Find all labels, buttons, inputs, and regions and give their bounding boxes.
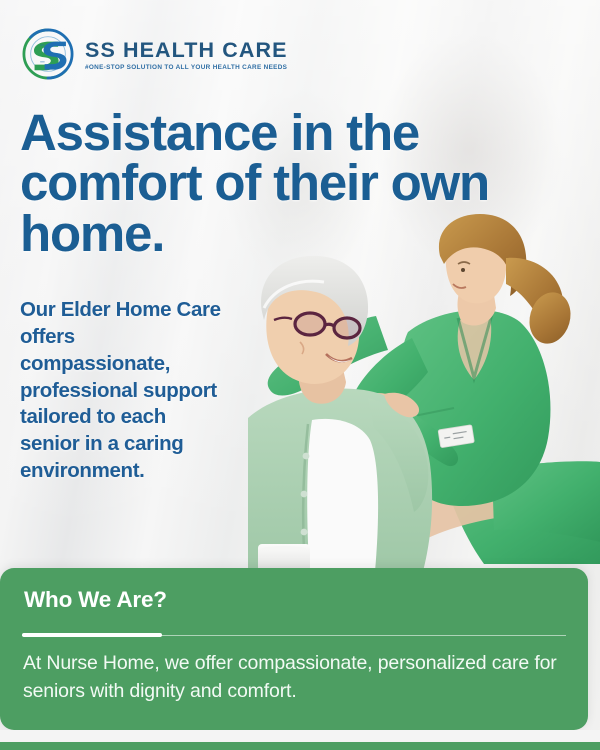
panel-title: Who We Are? bbox=[24, 587, 167, 613]
who-we-are-panel: Who We Are? At Nurse Home, we offer comp… bbox=[0, 568, 588, 730]
panel-divider bbox=[22, 633, 566, 637]
brand-name: SS HEALTH CARE bbox=[85, 39, 288, 62]
bottom-white-gap bbox=[0, 730, 600, 742]
ss-monogram-icon bbox=[20, 26, 76, 82]
nurse-and-senior-photo bbox=[248, 212, 600, 582]
healthcare-flyer: SS HEALTH CARE #ONE-STOP SOLUTION TO ALL… bbox=[0, 0, 600, 750]
brand-logo[interactable]: SS HEALTH CARE #ONE-STOP SOLUTION TO ALL… bbox=[20, 26, 288, 82]
hero-lede: Our Elder Home Care offers compassionate… bbox=[20, 297, 226, 485]
brand-tagline: #ONE-STOP SOLUTION TO ALL YOUR HEALTH CA… bbox=[85, 64, 288, 71]
bottom-green-strip bbox=[0, 742, 600, 750]
logo-text-block: SS HEALTH CARE #ONE-STOP SOLUTION TO ALL… bbox=[85, 37, 288, 71]
panel-body-text: At Nurse Home, we offer compassionate, p… bbox=[23, 650, 561, 705]
